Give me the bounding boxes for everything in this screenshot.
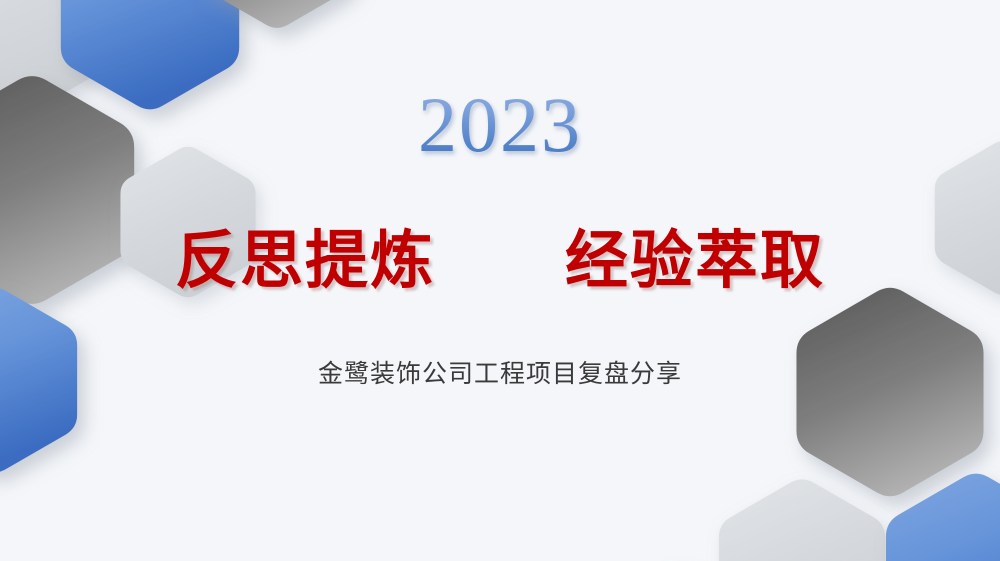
presentation-title-slide: 2023 反思提炼 经验萃取 金鹭装饰公司工程项目复盘分享: [0, 0, 1000, 561]
page-subtitle: 金鹭装饰公司工程项目复盘分享: [0, 358, 1000, 391]
year-label: 2023: [0, 86, 1000, 164]
title-text-block: 2023 反思提炼 经验萃取 金鹭装饰公司工程项目复盘分享: [0, 0, 1000, 561]
page-title: 反思提炼 经验萃取: [0, 226, 1000, 297]
